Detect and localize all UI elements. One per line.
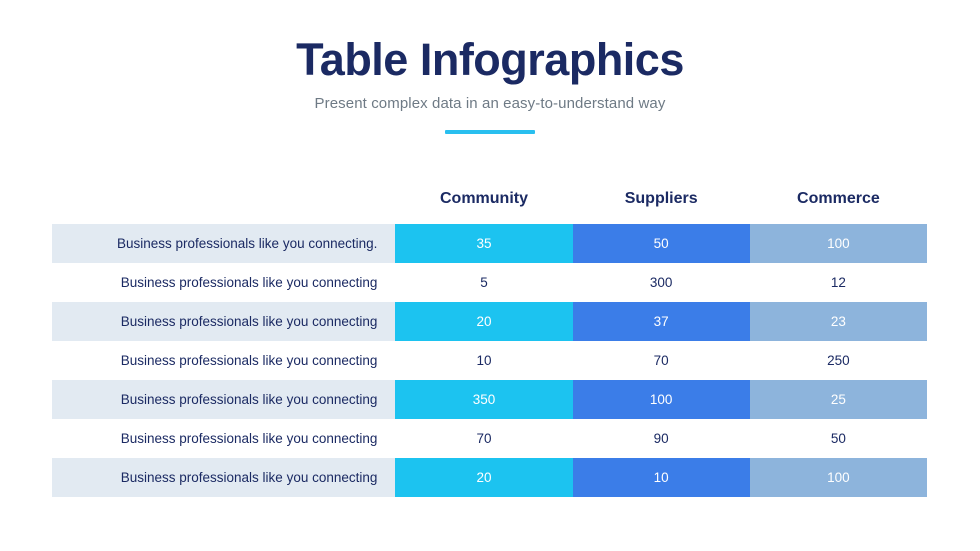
row-label: Business professionals like you connecti… [52,263,395,302]
column-header-commerce: Commerce [750,190,927,224]
cell-suppliers: 100 [573,380,750,419]
table-header-row: Community Suppliers Commerce [52,190,927,224]
cell-commerce: 50 [750,419,927,458]
row-label: Business professionals like you connecti… [52,380,395,419]
cell-suppliers: 50 [573,224,750,263]
cell-community: 35 [395,224,572,263]
page-subtitle: Present complex data in an easy-to-under… [0,95,980,112]
cell-community: 350 [395,380,572,419]
row-label: Business professionals like you connecti… [52,419,395,458]
cell-commerce: 100 [750,458,927,497]
cell-suppliers: 300 [573,263,750,302]
table-row[interactable]: Business professionals like you connecti… [52,380,927,419]
table-header: Community Suppliers Commerce [52,190,927,224]
table-container: Community Suppliers Commerce Business pr… [52,190,927,497]
cell-suppliers: 37 [573,302,750,341]
cell-community: 20 [395,458,572,497]
cell-commerce: 100 [750,224,927,263]
cell-community: 5 [395,263,572,302]
cell-community: 70 [395,419,572,458]
data-table: Community Suppliers Commerce Business pr… [52,190,927,497]
cell-commerce: 23 [750,302,927,341]
column-header-suppliers: Suppliers [573,190,750,224]
page-header: Table Infographics Present complex data … [0,0,980,134]
cell-suppliers: 10 [573,458,750,497]
cell-commerce: 12 [750,263,927,302]
table-row[interactable]: Business professionals like you connecti… [52,263,927,302]
table-row[interactable]: Business professionals like you connecti… [52,302,927,341]
cell-community: 20 [395,302,572,341]
column-header-label [52,190,395,224]
cell-community: 10 [395,341,572,380]
page-title: Table Infographics [0,36,980,83]
table-row[interactable]: Business professionals like you connecti… [52,341,927,380]
cell-commerce: 250 [750,341,927,380]
cell-commerce: 25 [750,380,927,419]
table-row[interactable]: Business professionals like you connecti… [52,458,927,497]
cell-suppliers: 70 [573,341,750,380]
row-label: Business professionals like you connecti… [52,224,395,263]
accent-underline [445,130,535,134]
table-row[interactable]: Business professionals like you connecti… [52,419,927,458]
table-row[interactable]: Business professionals like you connecti… [52,224,927,263]
cell-suppliers: 90 [573,419,750,458]
column-header-community: Community [395,190,572,224]
row-label: Business professionals like you connecti… [52,458,395,497]
row-label: Business professionals like you connecti… [52,341,395,380]
table-body: Business professionals like you connecti… [52,224,927,497]
row-label: Business professionals like you connecti… [52,302,395,341]
